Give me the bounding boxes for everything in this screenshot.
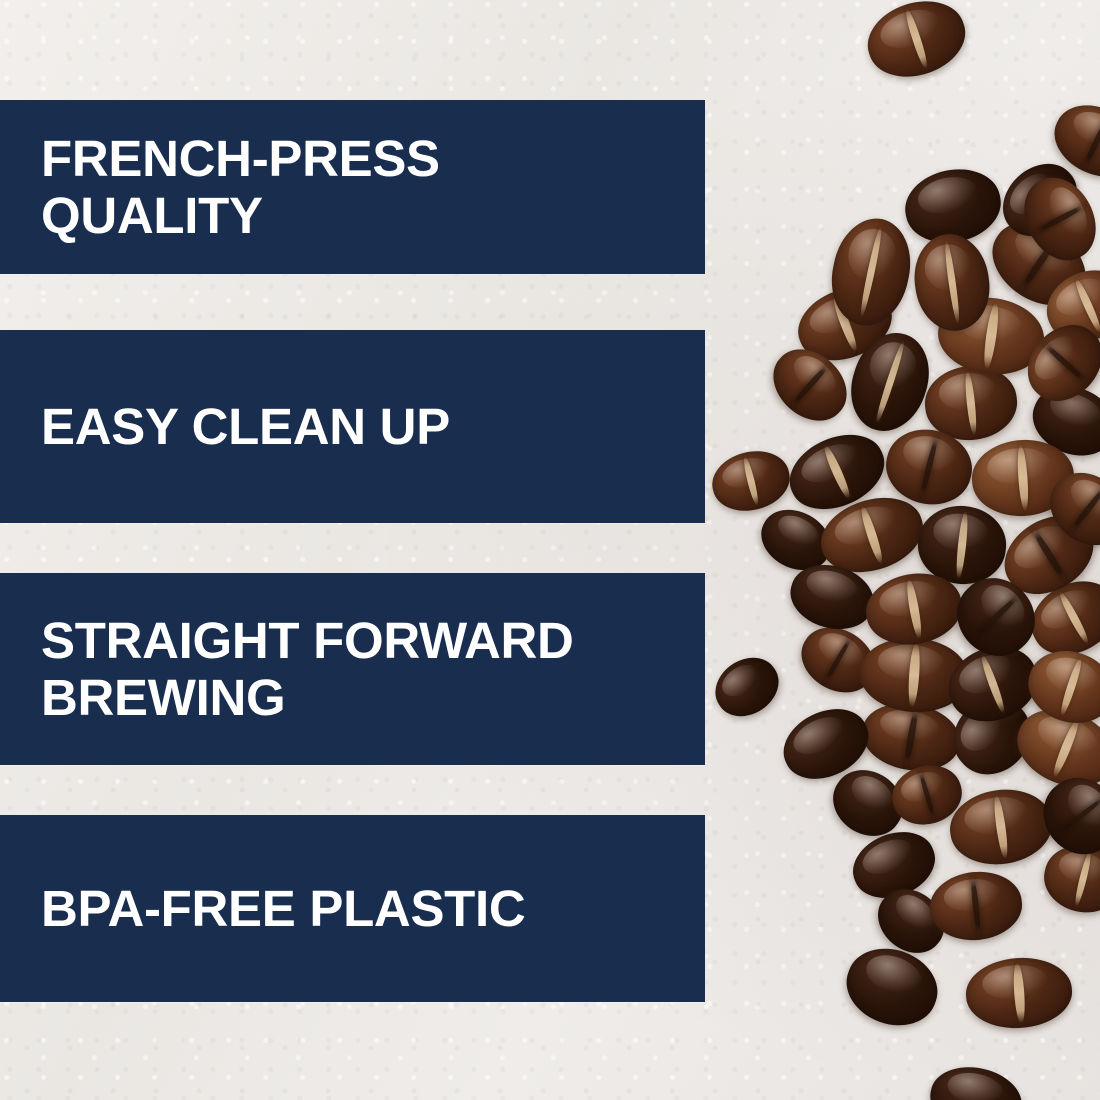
feature-bar-bpa-free-plastic: BPA-FREE PLASTIC bbox=[0, 815, 705, 1002]
feature-bar-easy-clean-up: EASY CLEAN UP bbox=[0, 330, 705, 523]
feature-label-french-press-quality: FRENCH-PRESS QUALITY bbox=[0, 130, 456, 244]
feature-label-straight-forward-brewing: STRAIGHT FORWARD BREWING bbox=[0, 612, 590, 726]
feature-bar-french-press-quality: FRENCH-PRESS QUALITY bbox=[0, 100, 705, 274]
infographic-canvas: FRENCH-PRESS QUALITYEASY CLEAN UPSTRAIGH… bbox=[0, 0, 1100, 1100]
feature-label-easy-clean-up: EASY CLEAN UP bbox=[0, 398, 466, 455]
feature-label-bpa-free-plastic: BPA-FREE PLASTIC bbox=[0, 880, 541, 937]
feature-bar-straight-forward-brewing: STRAIGHT FORWARD BREWING bbox=[0, 573, 705, 765]
